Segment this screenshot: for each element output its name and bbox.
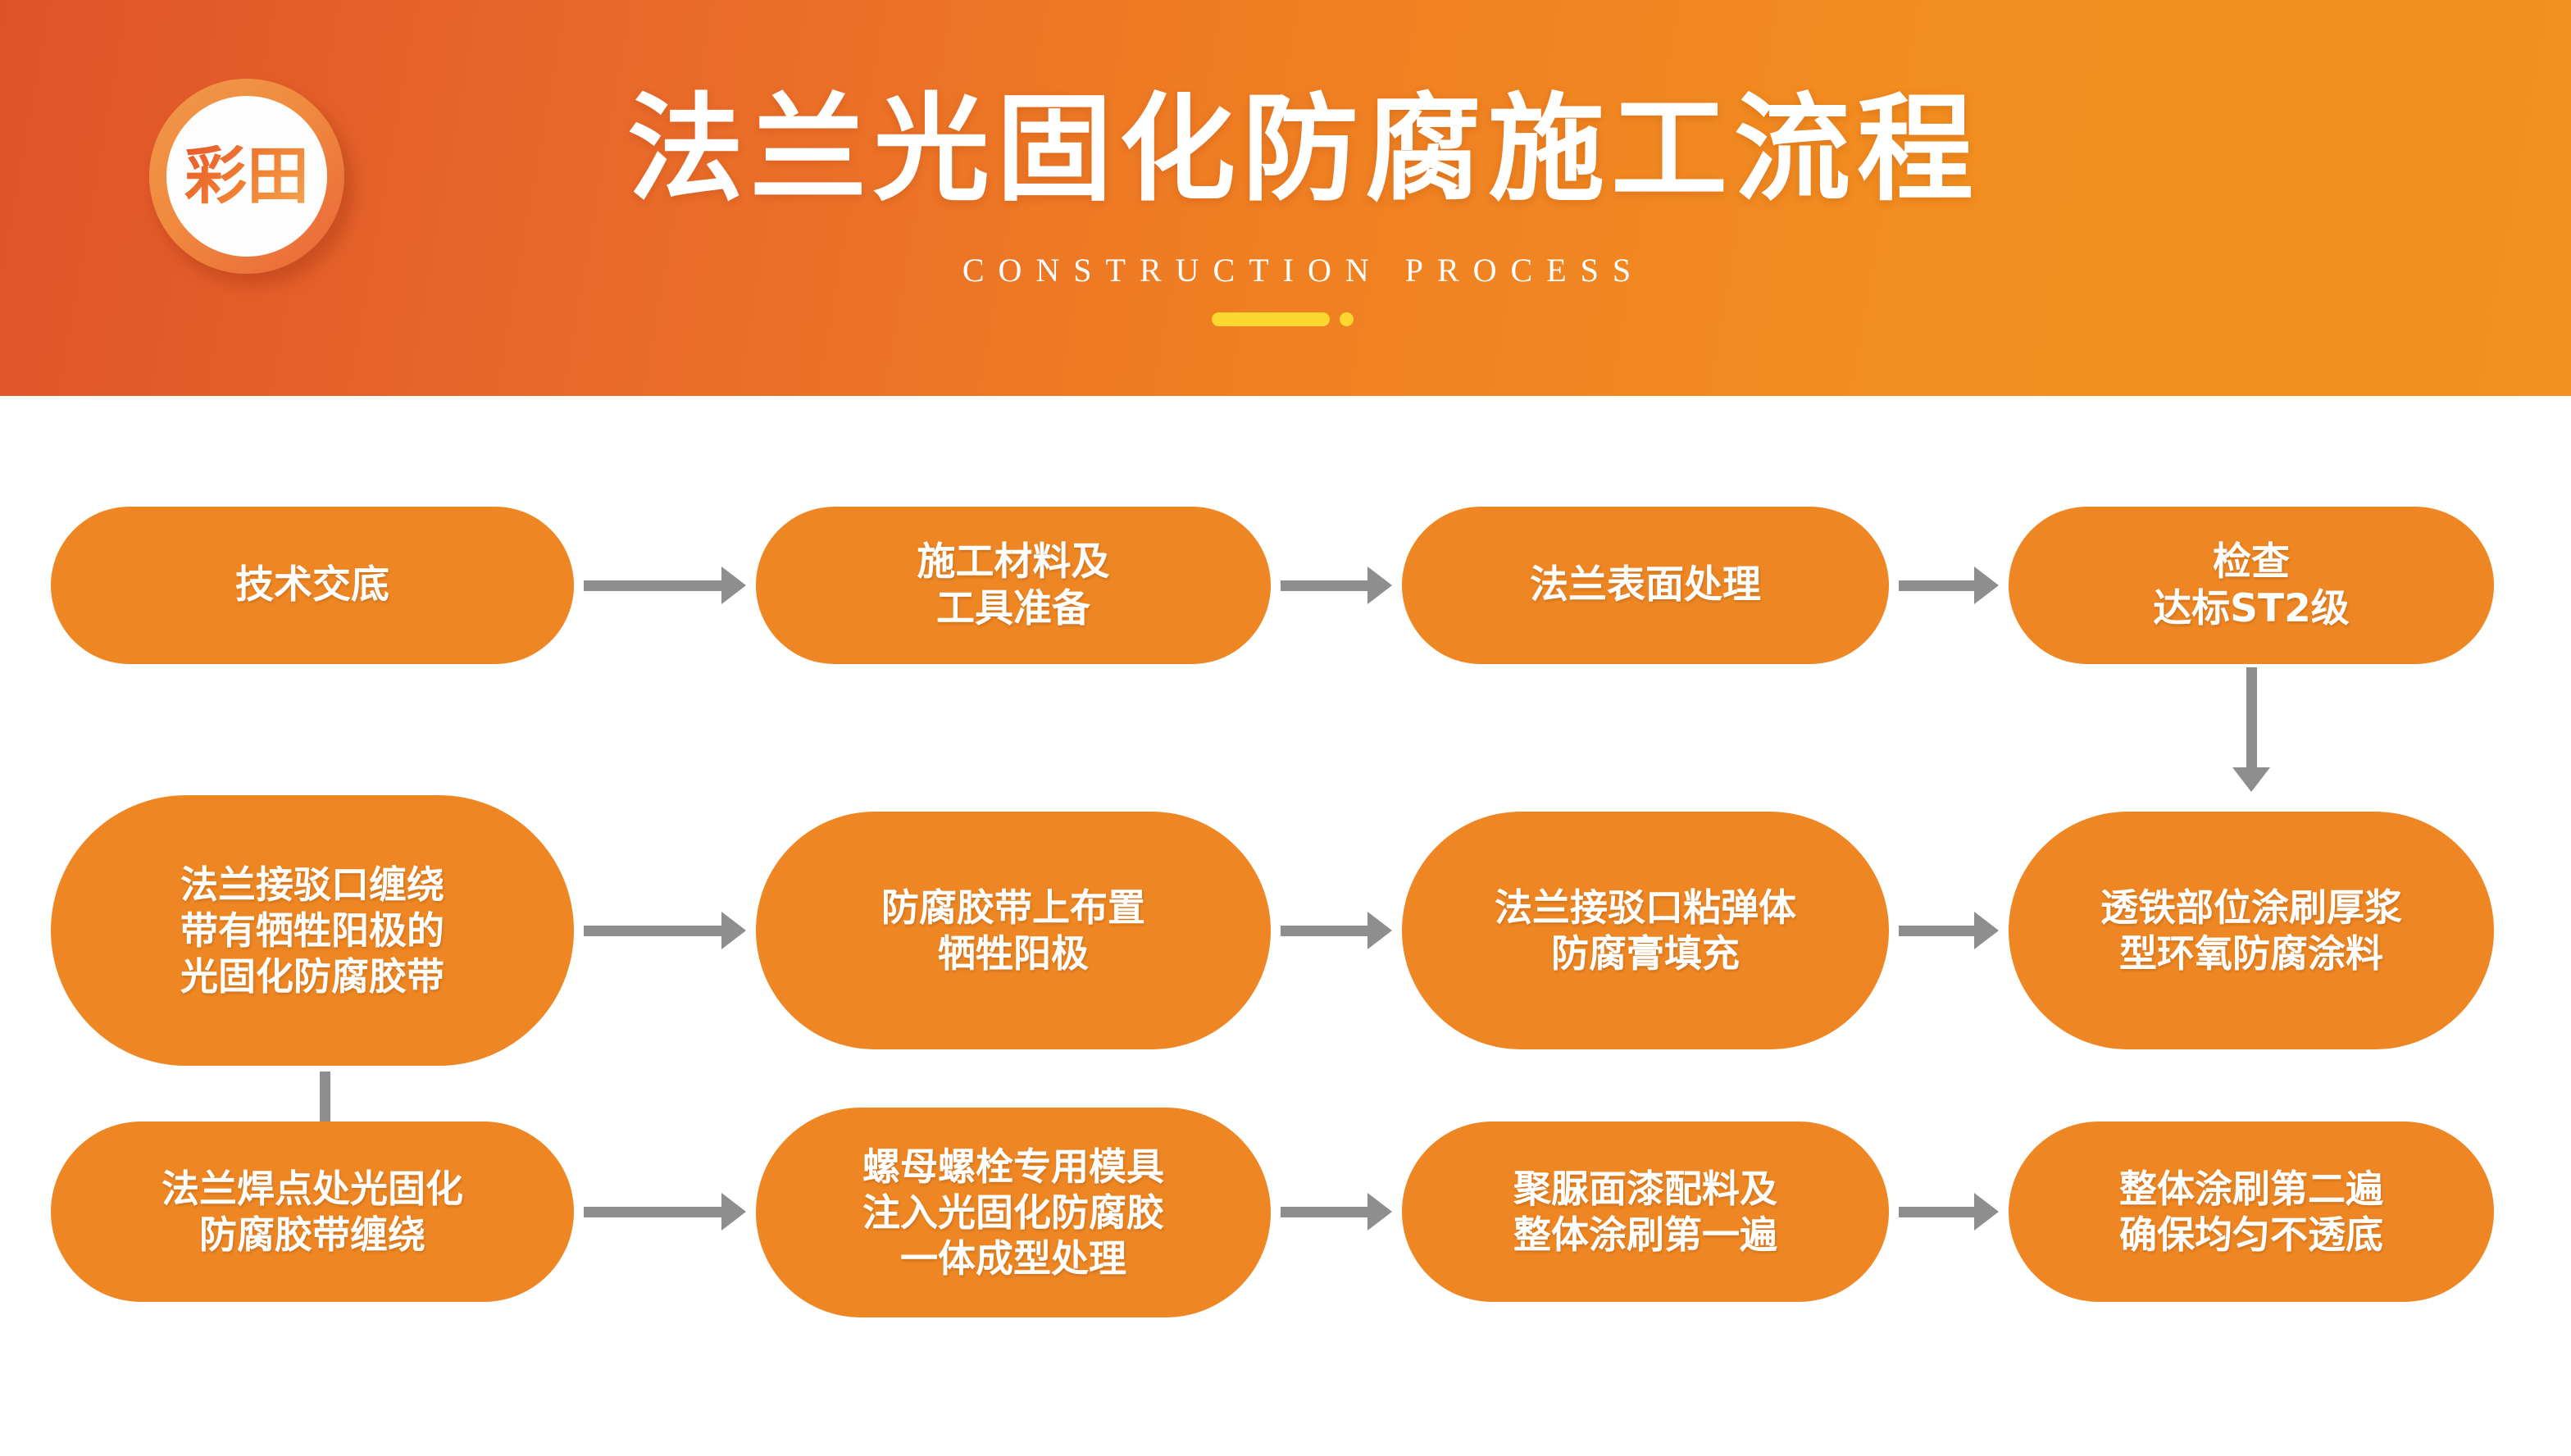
flow-node-viscoelastic-paste[interactable]: 法兰接驳口粘弹体 防腐膏填充 (1402, 812, 1889, 1049)
arrow-r3-n11-to-n12 (1899, 1193, 1999, 1231)
flow-node-inspection-st2[interactable]: 检查 达标ST2级 (2009, 507, 2494, 664)
arrow-shaft (1281, 926, 1367, 936)
arrow-head-right-icon (721, 566, 746, 604)
arrow-head-right-icon (1367, 1193, 1392, 1231)
arrow-head-right-icon (721, 912, 746, 949)
arrow-r2-n5-to-n6 (584, 912, 746, 949)
arrow-shaft (1281, 580, 1367, 591)
title-underline-decoration (1212, 312, 1354, 326)
flow-node-anode-tape-wrapping[interactable]: 法兰接驳口缠绕 带有牺牲阳极的 光固化防腐胶带 (51, 795, 574, 1066)
arrow-shaft (584, 926, 721, 936)
arrow-shaft (584, 580, 721, 591)
arrow-r1n4-to-r2n8 (2232, 667, 2270, 792)
arrow-shaft (584, 1207, 721, 1217)
flow-node-polyurea-first-coat[interactable]: 聚脲面漆配料及 整体涂刷第一遍 (1402, 1122, 1889, 1302)
flow-node-material-preparation[interactable]: 施工材料及 工具准备 (756, 507, 1271, 664)
arrow-head-right-icon (1367, 912, 1392, 949)
flow-node-second-coat[interactable]: 整体涂刷第二遍 确保均匀不透底 (2009, 1122, 2494, 1302)
logo-disc: 彩田 (166, 96, 327, 257)
arrow-head-right-icon (1974, 912, 1999, 949)
flow-node-anode-placement[interactable]: 防腐胶带上布置 牺牲阳极 (756, 812, 1271, 1049)
logo-label: 彩田 (184, 145, 309, 207)
arrow-shaft (1281, 1207, 1367, 1217)
arrow-shaft (1899, 580, 1974, 591)
flow-node-weld-point-tape[interactable]: 法兰焊点处光固化 防腐胶带缠绕 (51, 1122, 574, 1302)
arrow-shaft (1899, 1207, 1974, 1217)
arrow-head-right-icon (1367, 566, 1392, 604)
arrow-shaft (2246, 667, 2257, 767)
flow-node-bolt-mold-injection[interactable]: 螺母螺栓专用模具 注入光固化防腐胶 一体成型处理 (756, 1108, 1271, 1317)
flow-node-flange-surface-treatment[interactable]: 法兰表面处理 (1402, 507, 1889, 664)
flow-node-technical-briefing[interactable]: 技术交底 (51, 507, 574, 664)
flowchart-poster: 彩田 法兰光固化防腐施工流程 CONSTRUCTION PROCESS 技术交底… (0, 0, 2571, 1456)
arrow-head-right-icon (1974, 1193, 1999, 1231)
arrow-r3-n10-to-n11 (1281, 1193, 1392, 1231)
arrow-r1-n1-to-n2 (584, 566, 746, 604)
arrow-shaft (1899, 926, 1974, 936)
arrow-head-right-icon (721, 1193, 746, 1231)
page-subtitle: CONSTRUCTION PROCESS (533, 251, 2074, 289)
arrow-head-down-icon (2232, 767, 2270, 792)
arrow-r2-n6-to-n7 (1281, 912, 1392, 949)
poster-header: 彩田 法兰光固化防腐施工流程 CONSTRUCTION PROCESS (0, 0, 2571, 396)
process-flow: 技术交底 施工材料及 工具准备 法兰表面处理 检查 达标ST2级 法兰接驳口缠绕… (0, 396, 2571, 1456)
arrow-head-right-icon (1974, 566, 1999, 604)
arrow-r1-n3-to-n4 (1899, 566, 1999, 604)
decoration-bar (1212, 312, 1330, 326)
page-title: 法兰光固化防腐施工流程 (533, 89, 2074, 211)
decoration-dot (1340, 312, 1354, 326)
arrow-r3-n9-to-n10 (584, 1193, 746, 1231)
brand-logo: 彩田 (149, 79, 354, 285)
arrow-r1-n2-to-n3 (1281, 566, 1392, 604)
flow-node-epoxy-coating[interactable]: 透铁部位涂刷厚浆 型环氧防腐涂料 (2009, 812, 2494, 1049)
arrow-r2-n7-to-n8 (1899, 912, 1999, 949)
